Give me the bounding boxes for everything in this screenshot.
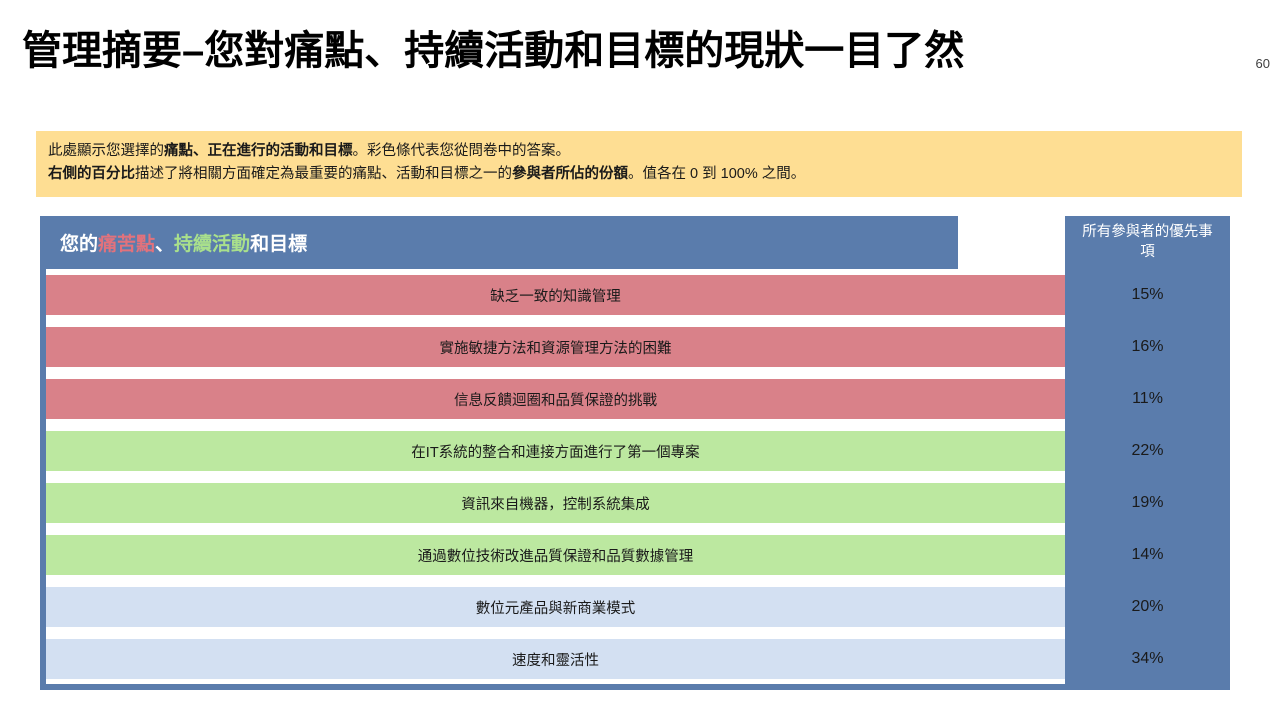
row-label: 數位元產品與新商業模式	[476, 597, 636, 618]
row-bar-activity: 通過數位技術改進品質保證和品質數據管理	[46, 535, 1065, 575]
table-row: 在IT系統的整合和連接方面進行了第一個專案22%	[46, 425, 1230, 477]
row-percent: 14%	[1065, 529, 1230, 581]
row-bar-pain: 缺乏一致的知識管理	[46, 275, 1065, 315]
row-percent: 16%	[1065, 321, 1230, 373]
note-line-1-text-a: 此處顯示您選擇的	[48, 143, 164, 159]
row-bar-goal: 速度和靈活性	[46, 639, 1065, 679]
header-segment-activities: 持續活動	[174, 234, 250, 255]
note-line-2-text-a: 描述了將相關方面確定為最重要的痛點、活動和目標之一的	[135, 166, 512, 182]
note-line-2-text-b: 。值各在 0 到 100% 之間。	[628, 166, 805, 182]
row-bar-pain: 實施敏捷方法和資源管理方法的困難	[46, 327, 1065, 367]
header-segment-separator: 、	[155, 234, 174, 255]
page-number: 60	[1256, 56, 1270, 71]
row-bar-activity: 資訊來自機器，控制系統集成	[46, 483, 1065, 523]
row-percent: 22%	[1065, 425, 1230, 477]
row-label: 資訊來自機器，控制系統集成	[461, 493, 650, 514]
row-bar-pain: 信息反饋迴圈和品質保證的挑戰	[46, 379, 1065, 419]
table-header-row: 您的痛苦點、持續活動和目標	[46, 216, 958, 269]
row-label: 缺乏一致的知識管理	[490, 285, 621, 306]
row-bar-goal: 數位元產品與新商業模式	[46, 587, 1065, 627]
info-note-box: 此處顯示您選擇的痛點、正在進行的活動和目標。彩色條代表您從問卷中的答案。 右側的…	[36, 131, 1242, 197]
row-label: 在IT系統的整合和連接方面進行了第一個專案	[411, 441, 699, 462]
row-percent: 19%	[1065, 477, 1230, 529]
priority-column-header: 所有參與者的優先事項	[1065, 216, 1230, 269]
row-label: 速度和靈活性	[512, 649, 599, 670]
note-line-1-text-b: 。彩色條代表您從問卷中的答案。	[353, 143, 571, 159]
header-segment-goals: 和目標	[250, 234, 307, 255]
row-bar-activity: 在IT系統的整合和連接方面進行了第一個專案	[46, 431, 1065, 471]
page-title: 管理摘要–您對痛點、持續活動和目標的現狀一目了然	[22, 28, 1182, 74]
row-percent: 11%	[1065, 373, 1230, 425]
table-row: 通過數位技術改進品質保證和品質數據管理14%	[46, 529, 1230, 581]
table-row: 速度和靈活性34%	[46, 633, 1230, 685]
table-rows: 缺乏一致的知識管理15%實施敏捷方法和資源管理方法的困難16%信息反饋迴圈和品質…	[46, 269, 1230, 685]
priority-table: 您的痛苦點、持續活動和目標 所有參與者的優先事項 缺乏一致的知識管理15%實施敏…	[40, 216, 1230, 690]
row-label: 信息反饋迴圈和品質保證的挑戰	[454, 389, 657, 410]
row-percent: 20%	[1065, 581, 1230, 633]
header-segment-your: 您的	[60, 234, 98, 255]
row-percent: 15%	[1065, 269, 1230, 321]
note-line-2-bold-b: 參與者所佔的份額	[512, 166, 628, 182]
note-line-2-bold-a: 右側的百分比	[48, 166, 135, 182]
table-header-title: 您的痛苦點、持續活動和目標	[60, 229, 307, 256]
table-row: 實施敏捷方法和資源管理方法的困難16%	[46, 321, 1230, 373]
row-percent: 34%	[1065, 633, 1230, 685]
note-line-2: 右側的百分比描述了將相關方面確定為最重要的痛點、活動和目標之一的參與者所佔的份額…	[48, 163, 1232, 186]
header-segment-painpoints: 痛苦點	[98, 234, 155, 255]
table-row: 資訊來自機器，控制系統集成19%	[46, 477, 1230, 529]
table-row: 數位元產品與新商業模式20%	[46, 581, 1230, 633]
table-row: 缺乏一致的知識管理15%	[46, 269, 1230, 321]
table-row: 信息反饋迴圈和品質保證的挑戰11%	[46, 373, 1230, 425]
row-label: 通過數位技術改進品質保證和品質數據管理	[418, 545, 694, 566]
note-line-1: 此處顯示您選擇的痛點、正在進行的活動和目標。彩色條代表您從問卷中的答案。	[48, 140, 1232, 163]
row-label: 實施敏捷方法和資源管理方法的困難	[440, 337, 672, 358]
note-line-1-bold-a: 痛點、正在進行的活動和目標	[164, 143, 353, 159]
